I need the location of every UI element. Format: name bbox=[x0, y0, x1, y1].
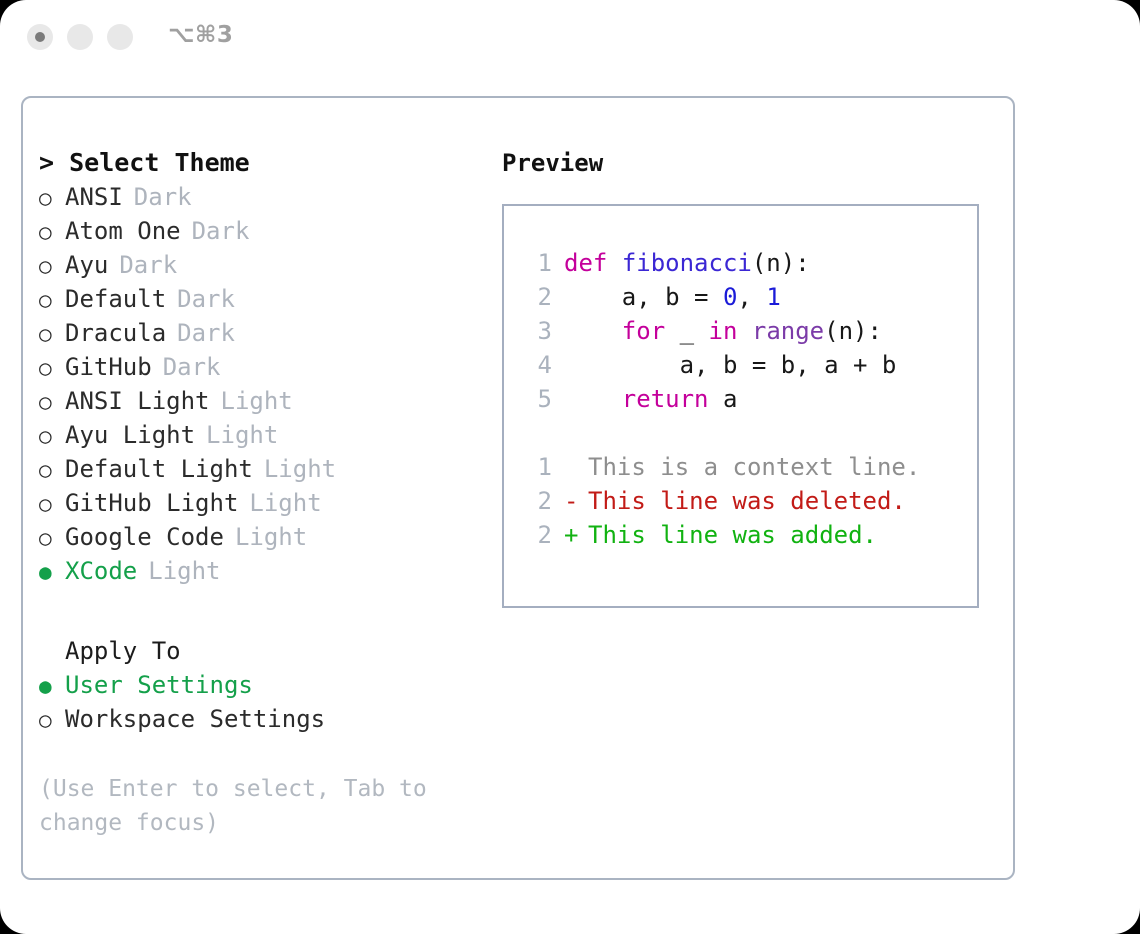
radio-unselected-icon: ○ bbox=[39, 283, 65, 317]
diff-sign bbox=[564, 450, 588, 484]
preview-panel: 1def fibonacci(n):2 a, b = 0, 13 for _ i… bbox=[502, 204, 979, 608]
radio-unselected-icon: ○ bbox=[39, 181, 65, 215]
code-token bbox=[564, 385, 622, 413]
diff-sign: - bbox=[564, 484, 588, 518]
code-token: a, b = bbox=[564, 283, 723, 311]
theme-variant-tag: Dark bbox=[177, 316, 235, 350]
theme-variant-tag: Dark bbox=[134, 180, 192, 214]
radio-unselected-icon: ○ bbox=[39, 249, 65, 283]
diff-line: 1 This is a context line. bbox=[518, 450, 920, 484]
theme-option-0[interactable]: ○ANSIDark bbox=[39, 180, 489, 214]
radio-unselected-icon: ○ bbox=[39, 351, 65, 385]
theme-option-6[interactable]: ○ANSI LightLight bbox=[39, 384, 489, 418]
radio-unselected-icon: ○ bbox=[39, 703, 65, 737]
code-token: fibonacci bbox=[622, 249, 752, 277]
theme-variant-tag: Dark bbox=[177, 282, 235, 316]
code-token: for bbox=[622, 317, 665, 345]
theme-option-label: Default Light bbox=[65, 452, 253, 486]
code-token: def bbox=[564, 249, 607, 277]
code-line-number: 3 bbox=[518, 314, 552, 348]
apply-to-option-label: Workspace Settings bbox=[65, 702, 325, 736]
code-token: 0 bbox=[723, 283, 737, 311]
theme-option-label: Dracula bbox=[65, 316, 166, 350]
theme-variant-tag: Light bbox=[148, 554, 220, 588]
theme-option-11[interactable]: ●XCodeLight bbox=[39, 554, 489, 588]
code-diff-separator bbox=[518, 416, 920, 450]
radio-unselected-icon: ○ bbox=[39, 215, 65, 249]
theme-variant-tag: Light bbox=[235, 520, 307, 554]
diff-text: This line was deleted. bbox=[588, 487, 906, 515]
radio-unselected-icon: ○ bbox=[39, 487, 65, 521]
code-preview: 1def fibonacci(n):2 a, b = 0, 13 for _ i… bbox=[518, 246, 920, 552]
theme-variant-tag: Dark bbox=[192, 214, 250, 248]
theme-variant-tag: Light bbox=[206, 418, 278, 452]
apply-to-heading: Apply To bbox=[39, 634, 489, 668]
theme-option-1[interactable]: ○Atom OneDark bbox=[39, 214, 489, 248]
theme-picker-card: > Select Theme ○ANSIDark○Atom OneDark○Ay… bbox=[21, 96, 1015, 880]
diff-line-number: 2 bbox=[518, 518, 552, 552]
radio-unselected-icon: ○ bbox=[39, 317, 65, 351]
code-line-number: 5 bbox=[518, 382, 552, 416]
section-spacer bbox=[39, 588, 489, 634]
diff-line: 2-This line was deleted. bbox=[518, 484, 920, 518]
code-token: in bbox=[709, 317, 738, 345]
keyboard-hint-text: (Use Enter to select, Tab to change focu… bbox=[39, 772, 459, 840]
code-token bbox=[564, 317, 622, 345]
code-token: 1 bbox=[766, 283, 780, 311]
theme-option-label: ANSI Light bbox=[65, 384, 210, 418]
diff-line-number: 1 bbox=[518, 450, 552, 484]
code-token: return bbox=[622, 385, 709, 413]
radio-selected-icon: ● bbox=[39, 669, 65, 703]
code-token: range bbox=[752, 317, 824, 345]
diff-text: This is a context line. bbox=[588, 453, 920, 481]
preview-column: Preview bbox=[502, 146, 1002, 180]
code-token: (n): bbox=[824, 317, 882, 345]
code-token: a bbox=[709, 385, 738, 413]
theme-option-label: GitHub Light bbox=[65, 486, 238, 520]
apply-to-option-0[interactable]: ●User Settings bbox=[39, 668, 489, 702]
theme-option-label: ANSI bbox=[65, 180, 123, 214]
page-title: > Select Theme bbox=[39, 146, 489, 180]
theme-variant-tag: Light bbox=[221, 384, 293, 418]
diff-line: 2+This line was added. bbox=[518, 518, 920, 552]
code-token: _ bbox=[665, 317, 708, 345]
theme-option-4[interactable]: ○DraculaDark bbox=[39, 316, 489, 350]
theme-option-label: Google Code bbox=[65, 520, 224, 554]
theme-option-label: Default bbox=[65, 282, 166, 316]
diff-text: This line was added. bbox=[588, 521, 877, 549]
theme-option-9[interactable]: ○GitHub LightLight bbox=[39, 486, 489, 520]
code-line: 3 for _ in range(n): bbox=[518, 314, 920, 348]
theme-variant-tag: Light bbox=[249, 486, 321, 520]
code-line: 5 return a bbox=[518, 382, 920, 416]
code-line: 1def fibonacci(n): bbox=[518, 246, 920, 280]
theme-variant-tag: Light bbox=[264, 452, 336, 486]
code-line: 4 a, b = b, a + b bbox=[518, 348, 920, 382]
theme-variant-tag: Dark bbox=[163, 350, 221, 384]
radio-unselected-icon: ○ bbox=[39, 453, 65, 487]
theme-option-10[interactable]: ○Google CodeLight bbox=[39, 520, 489, 554]
diff-sign: + bbox=[564, 518, 588, 552]
window-controls bbox=[27, 24, 133, 50]
apply-to-option-list[interactable]: ●User Settings○Workspace Settings bbox=[39, 668, 489, 736]
theme-option-label: GitHub bbox=[65, 350, 152, 384]
code-token: a, b = b, a + b bbox=[564, 351, 896, 379]
theme-option-7[interactable]: ○Ayu LightLight bbox=[39, 418, 489, 452]
theme-option-2[interactable]: ○AyuDark bbox=[39, 248, 489, 282]
code-token bbox=[737, 317, 751, 345]
theme-option-list[interactable]: ○ANSIDark○Atom OneDark○AyuDark○DefaultDa… bbox=[39, 180, 489, 588]
diff-line-number: 2 bbox=[518, 484, 552, 518]
theme-option-label: Atom One bbox=[65, 214, 181, 248]
theme-option-label: XCode bbox=[65, 554, 137, 588]
dot-2-icon[interactable] bbox=[67, 24, 93, 50]
theme-variant-tag: Dark bbox=[119, 248, 177, 282]
code-line-number: 4 bbox=[518, 348, 552, 382]
radio-unselected-icon: ○ bbox=[39, 419, 65, 453]
record-dot-inner bbox=[35, 32, 45, 42]
theme-option-label: Ayu bbox=[65, 248, 108, 282]
theme-option-5[interactable]: ○GitHubDark bbox=[39, 350, 489, 384]
keyboard-shortcut-label: ⌥⌘3 bbox=[168, 22, 233, 48]
dot-3-icon[interactable] bbox=[107, 24, 133, 50]
code-line-number: 1 bbox=[518, 246, 552, 280]
code-token: , bbox=[737, 283, 766, 311]
app-window: ⌥⌘3 > Select Theme ○ANSIDark○Atom OneDar… bbox=[0, 0, 1140, 934]
preview-title: Preview bbox=[502, 146, 1002, 180]
code-token: (n): bbox=[752, 249, 810, 277]
code-line: 2 a, b = 0, 1 bbox=[518, 280, 920, 314]
radio-unselected-icon: ○ bbox=[39, 521, 65, 555]
record-dot-icon[interactable] bbox=[27, 24, 53, 50]
radio-unselected-icon: ○ bbox=[39, 385, 65, 419]
theme-option-3[interactable]: ○DefaultDark bbox=[39, 282, 489, 316]
theme-option-label: Ayu Light bbox=[65, 418, 195, 452]
code-token bbox=[607, 249, 621, 277]
window-titlebar: ⌥⌘3 bbox=[0, 0, 1140, 80]
code-line-number: 2 bbox=[518, 280, 552, 314]
apply-to-option-1[interactable]: ○Workspace Settings bbox=[39, 702, 489, 736]
apply-to-option-label: User Settings bbox=[65, 668, 253, 702]
theme-selection-column: > Select Theme ○ANSIDark○Atom OneDark○Ay… bbox=[39, 146, 489, 840]
theme-option-8[interactable]: ○Default LightLight bbox=[39, 452, 489, 486]
radio-selected-icon: ● bbox=[39, 555, 65, 589]
